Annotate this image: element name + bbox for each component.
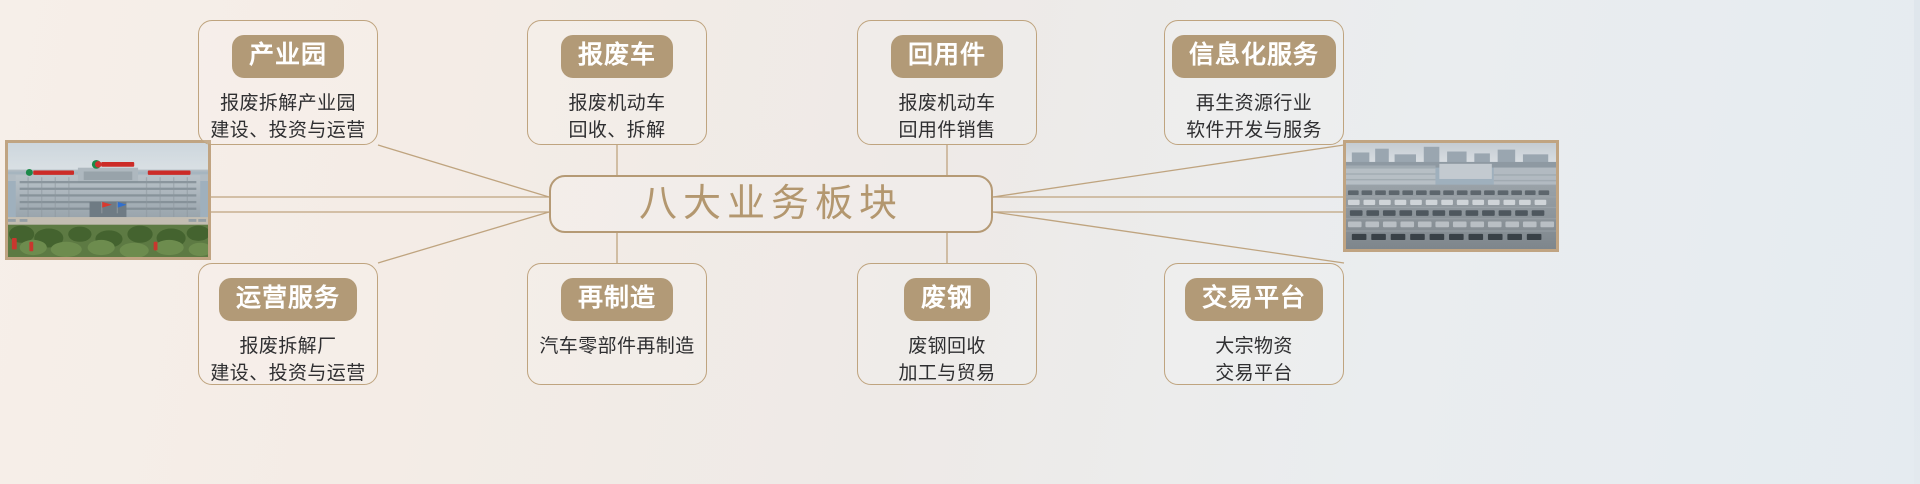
card-jiaoyi[interactable]: 交易平台 大宗物资 交易平台: [1164, 263, 1344, 385]
card-yunying-badge: 运营服务: [219, 278, 357, 321]
card-baofeiche-badge: 报废车: [561, 35, 673, 78]
card-feigang-desc: 废钢回收 加工与贸易: [898, 334, 995, 388]
card-xinxihua[interactable]: 信息化服务 再生资源行业 软件开发与服务: [1164, 20, 1344, 145]
card-xinxihua-badge: 信息化服务: [1172, 35, 1336, 78]
card-huiyongjian[interactable]: 回用件 报废机动车 回用件销售: [857, 20, 1037, 145]
center-node[interactable]: 八大业务板块: [549, 175, 993, 233]
card-xinxihua-desc: 再生资源行业 软件开发与服务: [1186, 91, 1322, 145]
card-zaizhizao-badge: 再制造: [561, 278, 673, 321]
card-feigang[interactable]: 废钢 废钢回收 加工与贸易: [857, 263, 1037, 385]
link-center-to-jiaoyi: [993, 212, 1344, 263]
vehicle-yard-photo-image: [1346, 143, 1556, 249]
link-center-to-yunying: [378, 212, 549, 263]
link-center-to-chanyeyuan: [378, 145, 549, 197]
card-chanyeyuan-desc: 报废拆解产业园 建设、投资与运营: [210, 91, 365, 145]
card-yunying-desc: 报废拆解厂 建设、投资与运营: [210, 334, 365, 388]
industrial-park-photo: [5, 140, 211, 260]
card-yunying[interactable]: 运营服务 报废拆解厂 建设、投资与运营: [198, 263, 378, 385]
diagram-canvas: 八大业务板块: [0, 0, 1920, 484]
card-baofeiche[interactable]: 报废车 报废机动车 回收、拆解: [527, 20, 707, 145]
link-center-to-xinxihua: [993, 145, 1344, 197]
card-huiyongjian-desc: 报废机动车 回用件销售: [898, 91, 995, 145]
card-zaizhizao[interactable]: 再制造 汽车零部件再制造: [527, 263, 707, 385]
card-huiyongjian-badge: 回用件: [891, 35, 1003, 78]
card-jiaoyi-desc: 大宗物资 交易平台: [1215, 334, 1293, 388]
vehicle-yard-photo: [1343, 140, 1559, 252]
card-baofeiche-desc: 报废机动车 回收、拆解: [568, 91, 665, 145]
center-node-title: 八大业务板块: [639, 185, 903, 223]
right-edge-band: [1914, 0, 1920, 484]
industrial-park-photo-image: [8, 143, 208, 257]
card-zaizhizao-desc: 汽车零部件再制造: [539, 334, 694, 361]
card-chanyeyuan[interactable]: 产业园 报废拆解产业园 建设、投资与运营: [198, 20, 378, 145]
card-jiaoyi-badge: 交易平台: [1185, 278, 1323, 321]
card-chanyeyuan-badge: 产业园: [232, 35, 344, 78]
card-feigang-badge: 废钢: [904, 278, 990, 321]
